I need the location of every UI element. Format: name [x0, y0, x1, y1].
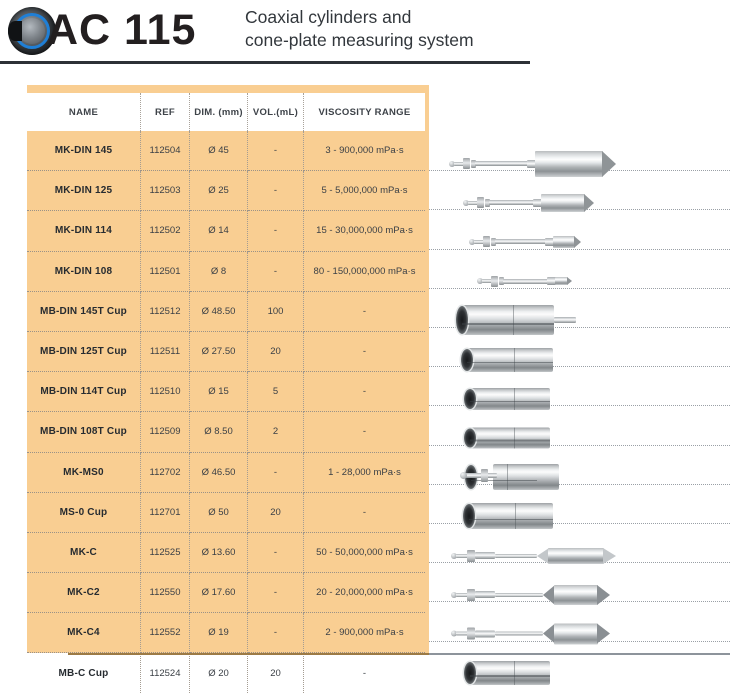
cone-right-tip — [603, 548, 616, 564]
cup-body — [470, 388, 550, 410]
content-area: NAME REF DIM. (mm) VOL.(mL) VISCOSITY RA… — [0, 72, 738, 661]
cell-viscosity: 5 - 5,000,000 mPa·s — [304, 171, 426, 211]
cell-vol: 2 — [248, 412, 304, 452]
cell-dim: Ø 50 — [190, 492, 248, 532]
table-row: MB-DIN 114T Cup112510Ø 155- — [27, 372, 425, 412]
spindle-body — [553, 236, 575, 248]
table-row: MK-DIN 145112504Ø 45-3 - 900,000 mPa·s — [27, 131, 425, 171]
cone-body — [554, 585, 598, 605]
cell-dim: Ø 8.50 — [190, 412, 248, 452]
cell-vol: - — [248, 613, 304, 653]
cell-dim: Ø 45 — [190, 131, 248, 171]
header-divider — [0, 61, 530, 64]
cup-highlight-line — [470, 675, 550, 677]
product-image-spindle-bob-medium — [429, 183, 738, 222]
spindle-body — [535, 151, 603, 177]
product-image-spindle-bob-small — [429, 222, 738, 261]
column-header-viscosity: VISCOSITY RANGE — [304, 93, 426, 131]
table-row: MB-C Cup112524Ø 2020- — [27, 653, 425, 693]
spindle-shoulder — [475, 591, 495, 598]
cup-body — [493, 464, 559, 490]
table-row: MS-0 Cup112701Ø 5020- — [27, 492, 425, 532]
cup-highlight-line — [470, 440, 550, 442]
cup-highlight-line — [467, 362, 553, 364]
spindle-shaft — [475, 161, 535, 166]
cell-ref: 112511 — [141, 331, 190, 371]
cup-seam — [507, 464, 508, 490]
cell-ref: 112552 — [141, 613, 190, 653]
cup-stem — [554, 317, 576, 323]
table-row: MK-DIN 114112502Ø 14-15 - 30,000,000 mPa… — [27, 211, 425, 251]
cone-body — [554, 623, 598, 644]
cell-ref: 112701 — [141, 492, 190, 532]
cell-vol: - — [248, 211, 304, 251]
cell-ref: 112504 — [141, 131, 190, 171]
cell-viscosity: - — [304, 412, 426, 452]
spindle-shaft — [463, 473, 497, 478]
spindle-cone-tip — [602, 151, 616, 177]
cell-dim: Ø 14 — [190, 211, 248, 251]
cup-body — [469, 503, 553, 529]
cell-name: MK-DIN 145 — [27, 131, 141, 171]
cell-viscosity: 3 - 900,000 mPa·s — [304, 131, 426, 171]
cell-vol: 5 — [248, 372, 304, 412]
spindle-collar — [463, 158, 470, 169]
spindle-cone-tip — [574, 236, 581, 248]
spindle-shoulder — [475, 552, 495, 559]
cell-name: MK-C — [27, 532, 141, 572]
page-subtitle-line-1: Coaxial cylinders and — [245, 6, 474, 29]
product-image-ms0-cup — [429, 497, 738, 536]
table-row: MK-DIN 125112503Ø 25-5 - 5,000,000 mPa·s — [27, 171, 425, 211]
cell-vol: - — [248, 573, 304, 613]
cone-body — [548, 548, 604, 564]
cell-vol: 100 — [248, 291, 304, 331]
logo-ring-inner — [19, 18, 45, 44]
cell-viscosity: 20 - 20,000,000 mPa·s — [304, 573, 426, 613]
cup-opening — [464, 389, 476, 409]
cell-name: MK-C4 — [27, 613, 141, 653]
cell-dim: Ø 25 — [190, 171, 248, 211]
spindle-ball-end — [460, 472, 467, 479]
table-header-row: NAME REF DIM. (mm) VOL.(mL) VISCOSITY RA… — [27, 93, 425, 131]
column-header-dim: DIM. (mm) — [190, 93, 248, 131]
cell-ref: 112503 — [141, 171, 190, 211]
cell-dim: Ø 48.50 — [190, 291, 248, 331]
cell-vol: - — [248, 452, 304, 492]
spindle-collar — [467, 628, 475, 640]
spindle-collar — [467, 550, 475, 562]
spindle-shaft — [495, 632, 543, 636]
table-body: MK-DIN 145112504Ø 45-3 - 900,000 mPa·sMK… — [27, 131, 425, 693]
cup-highlight-line — [462, 323, 554, 325]
column-header-ref: REF — [141, 93, 190, 131]
cell-viscosity: - — [304, 372, 426, 412]
cell-dim: Ø 46.50 — [190, 452, 248, 492]
cell-name: MB-DIN 125T Cup — [27, 331, 141, 371]
cell-ref: 112501 — [141, 251, 190, 291]
column-header-vol: VOL.(mL) — [248, 93, 304, 131]
cell-name: MB-C Cup — [27, 653, 141, 693]
product-image-cup-large — [429, 301, 738, 340]
cell-vol: - — [248, 131, 304, 171]
spindle-cone-tip — [567, 277, 572, 285]
spindle-collar — [481, 469, 488, 482]
cell-ref: 112525 — [141, 532, 190, 572]
spindle-collar — [491, 276, 498, 287]
cup-seam — [514, 427, 515, 448]
product-image-cup-small — [429, 379, 738, 418]
cup-opening — [461, 349, 473, 371]
table-row: MK-C2112550Ø 17.60-20 - 20,000,000 mPa·s — [27, 573, 425, 613]
cup-body — [470, 427, 550, 448]
page-title: AC 115 — [47, 2, 196, 58]
spindle-shaft — [495, 593, 543, 597]
product-image-cone-spindle-c — [429, 536, 738, 575]
cell-ref: 112524 — [141, 653, 190, 693]
spindle-cone-tip — [584, 194, 594, 212]
cell-viscosity: 80 - 150,000,000 mPa·s — [304, 251, 426, 291]
table-row: MK-C4112552Ø 19-2 - 900,000 mPa·s — [27, 613, 425, 653]
table-row: MB-DIN 145T Cup112512Ø 48.50100- — [27, 291, 425, 331]
product-image-cup-medium — [429, 340, 738, 379]
cell-name: MK-DIN 125 — [27, 171, 141, 211]
bottom-rule-right — [429, 653, 730, 655]
cup-opening — [456, 306, 468, 334]
spindle-shoulder — [475, 630, 495, 637]
spindle-body — [541, 194, 585, 212]
product-images-column — [429, 85, 738, 653]
cup-seam — [513, 305, 514, 335]
cell-dim: Ø 20 — [190, 653, 248, 693]
cup-highlight-line — [469, 519, 553, 521]
page-header: AC 115 Coaxial cylinders and cone-plate … — [0, 0, 738, 72]
cell-ref: 112502 — [141, 211, 190, 251]
cell-viscosity: 50 - 50,000,000 mPa·s — [304, 532, 426, 572]
cell-vol: 20 — [248, 331, 304, 371]
product-image-cone-spindle-c2 — [429, 575, 738, 614]
cell-name: MK-MS0 — [27, 452, 141, 492]
table-row: MB-DIN 125T Cup112511Ø 27.5020- — [27, 331, 425, 371]
cup-body — [470, 661, 550, 685]
product-image-spindle-bob-large — [429, 144, 738, 183]
cell-dim: Ø 8 — [190, 251, 248, 291]
cell-viscosity: - — [304, 331, 426, 371]
cup-opening — [463, 504, 475, 528]
cell-viscosity: - — [304, 653, 426, 693]
cell-ref: 112702 — [141, 452, 190, 492]
cone-right-tip — [597, 585, 610, 605]
bottom-rule-left — [68, 653, 429, 655]
cell-name: MB-DIN 114T Cup — [27, 372, 141, 412]
cell-vol: 20 — [248, 653, 304, 693]
cell-viscosity: - — [304, 291, 426, 331]
product-image-cup-c — [429, 654, 738, 693]
product-image-cup-tiny — [429, 418, 738, 457]
cup-opening — [464, 428, 476, 447]
cup-seam — [514, 348, 515, 372]
cone-right-tip — [597, 623, 610, 643]
cell-ref: 112510 — [141, 372, 190, 412]
product-image-ms0-spindle — [429, 458, 738, 497]
cell-name: MK-DIN 108 — [27, 251, 141, 291]
product-image-spindle-bob-tiny — [429, 262, 738, 301]
spindle-collar — [467, 589, 475, 601]
cell-vol: - — [248, 251, 304, 291]
cell-ref: 112512 — [141, 291, 190, 331]
cell-dim: Ø 19 — [190, 613, 248, 653]
cell-ref: 112550 — [141, 573, 190, 613]
cell-name: MS-0 Cup — [27, 492, 141, 532]
cell-viscosity: 2 - 900,000 mPa·s — [304, 613, 426, 653]
logo-notch — [8, 21, 22, 41]
cell-dim: Ø 17.60 — [190, 573, 248, 613]
cell-vol: 20 — [248, 492, 304, 532]
cup-opening — [464, 662, 476, 684]
cell-name: MK-DIN 114 — [27, 211, 141, 251]
cup-seam — [514, 661, 515, 685]
cell-viscosity: 1 - 28,000 mPa·s — [304, 452, 426, 492]
cell-vol: - — [248, 171, 304, 211]
cup-seam — [514, 388, 515, 410]
cup-seam — [515, 503, 516, 529]
cell-ref: 112509 — [141, 412, 190, 452]
table-row: MK-C112525Ø 13.60-50 - 50,000,000 mPa·s — [27, 532, 425, 572]
cell-dim: Ø 27.50 — [190, 331, 248, 371]
spindle-shaft — [495, 554, 537, 558]
cell-dim: Ø 15 — [190, 372, 248, 412]
cup-highlight-line — [470, 401, 550, 403]
page-subtitle-line-2: cone-plate measuring system — [245, 29, 474, 52]
cup-body — [462, 305, 554, 335]
cell-viscosity: 15 - 30,000,000 mPa·s — [304, 211, 426, 251]
table-row: MK-DIN 108112501Ø 8-80 - 150,000,000 mPa… — [27, 251, 425, 291]
spindle-collar — [483, 236, 490, 247]
cell-dim: Ø 13.60 — [190, 532, 248, 572]
cell-viscosity: - — [304, 492, 426, 532]
table-row: MK-MS0112702Ø 46.50-1 - 28,000 mPa·s — [27, 452, 425, 492]
column-header-name: NAME — [27, 93, 141, 131]
cell-name: MB-DIN 108T Cup — [27, 412, 141, 452]
cell-name: MB-DIN 145T Cup — [27, 291, 141, 331]
cell-name: MK-C2 — [27, 573, 141, 613]
specifications-table: NAME REF DIM. (mm) VOL.(mL) VISCOSITY RA… — [27, 93, 425, 693]
page-subtitle: Coaxial cylinders and cone-plate measuri… — [245, 6, 474, 52]
table-row: MB-DIN 108T Cup112509Ø 8.502- — [27, 412, 425, 452]
spindle-collar — [477, 197, 484, 208]
cell-vol: - — [248, 532, 304, 572]
cup-body — [467, 348, 553, 372]
product-image-cone-spindle-c4 — [429, 614, 738, 653]
